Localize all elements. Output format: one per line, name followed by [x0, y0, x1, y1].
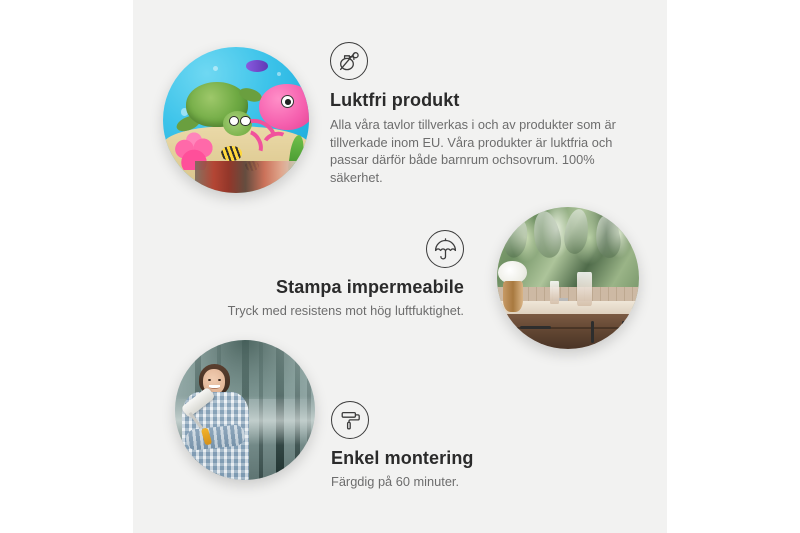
person-smile [209, 385, 220, 389]
ocean-mural-image [163, 47, 309, 193]
room-photo-strip [195, 161, 300, 193]
leaf-icon [562, 208, 591, 256]
feature-title: Luktfri produkt [330, 90, 622, 111]
feature-description: Tryck med resistens mot hög luftfuktighe… [214, 302, 464, 320]
feature-title: Stampa impermeabile [214, 277, 464, 298]
feature-description: Färgdig på 60 minuter. [331, 473, 581, 491]
fish-icon [246, 60, 268, 72]
bathroom-accessory [577, 272, 593, 306]
cabinet-handle [622, 321, 625, 344]
vase [503, 281, 523, 312]
fish-icon [221, 146, 241, 161]
leaf-icon [530, 209, 563, 260]
turtle-eye [229, 116, 239, 126]
forest-mural-art [175, 340, 315, 480]
drawer-handle [520, 326, 551, 329]
feature-odour-free: Luktfri produkt Alla våra tavlor tillver… [330, 42, 622, 186]
ocean-mural-art [163, 47, 309, 193]
paint-roller-icon [331, 401, 369, 439]
feature-waterproof-print: Stampa impermeabile Tryck med resistens … [214, 230, 464, 320]
cabinet-handle [591, 321, 594, 344]
leaf-icon [501, 217, 531, 260]
feature-easy-mounting: Enkel montering Färgdig på 60 minuter. [331, 401, 581, 491]
forest-mural-image [175, 340, 315, 480]
bathroom-accessory [550, 281, 560, 304]
bathroom-mural-art [497, 207, 639, 349]
no-fragrance-icon [330, 42, 368, 80]
feature-title: Enkel montering [331, 448, 581, 469]
umbrella-icon [426, 230, 464, 268]
wooden-vanity-cabinet [506, 314, 639, 350]
product-feature-infographic: Luktfri produkt Alla våra tavlor tillver… [0, 0, 800, 533]
bathroom-mural-image [497, 207, 639, 349]
bubble-icon [213, 66, 218, 71]
feature-description: Alla våra tavlor tillverkas i och av pro… [330, 116, 622, 186]
leaf-icon [594, 214, 622, 259]
forest-canopy [175, 340, 315, 399]
